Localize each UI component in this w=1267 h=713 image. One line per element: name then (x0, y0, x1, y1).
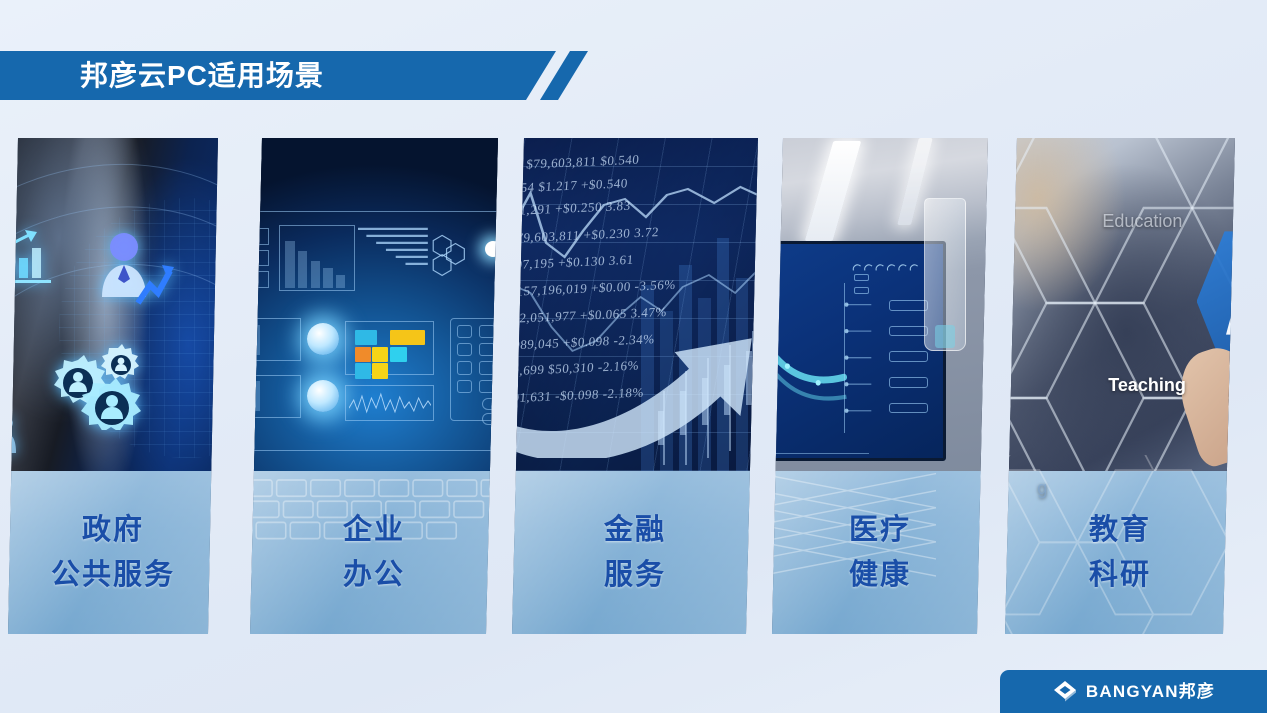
card-label-line1: 金融 (604, 508, 666, 553)
finance-photo: $2,410 $79,603,811 $0.540 $0.54 $1.217 +… (512, 138, 758, 471)
app-tile-refresh (372, 347, 388, 362)
monitor-icon-row (849, 259, 924, 276)
scenario-card-deck: 政府 公共服务 (0, 138, 1267, 634)
hex-label-teaching: Teaching (1108, 375, 1186, 396)
card-label-line2: 办公 (343, 553, 405, 598)
card-label-line2: 服务 (604, 553, 666, 598)
card-label-healthcare: 医疗 健康 (772, 471, 988, 634)
hex-label-presentation: tation (1005, 285, 1008, 306)
app-tile-sync (372, 363, 388, 378)
app-tile-wrench (355, 363, 371, 378)
enterprise-photo (250, 138, 498, 471)
medical-display-screen (772, 241, 946, 461)
diamond-fold-logo-icon (1052, 679, 1078, 705)
app-tile-doc (355, 347, 371, 362)
scenario-card-healthcare[interactable]: 医疗 健康 (772, 138, 988, 634)
app-tile-blank (390, 347, 407, 362)
card-label-line1: 教育 (1089, 508, 1151, 553)
card-label-line1: 企业 (343, 508, 405, 553)
footer-brand-bar: BANGYAN邦彦 (1000, 670, 1267, 713)
gear-people-icon (48, 338, 156, 430)
dna-visual-icon (772, 266, 849, 433)
person-growth-icon (94, 231, 176, 317)
card-label-finance: 金融 服务 (512, 471, 758, 634)
hex-label-education: Education (1102, 211, 1182, 232)
education-photo: Education Teaching tation (1005, 138, 1235, 471)
brand-name: BANGYAN邦彦 (1086, 683, 1215, 700)
people-row-icon (8, 411, 33, 461)
card-label-education: g 教育 科研 (1005, 471, 1235, 634)
card-label-line2: 科研 (1089, 553, 1151, 598)
app-tile-cart (390, 330, 425, 345)
scenario-card-enterprise[interactable]: 企业 办公 (250, 138, 498, 634)
hex-label-partial: g (1037, 478, 1047, 499)
card-label-government: 政府 公共服务 (8, 471, 218, 634)
healthcare-photo (772, 138, 988, 471)
scenario-card-finance[interactable]: $2,410 $79,603,811 $0.540 $0.54 $1.217 +… (512, 138, 758, 634)
hexagon-cluster-icon (431, 228, 475, 281)
scenario-card-government[interactable]: 政府 公共服务 (8, 138, 218, 634)
page-title: 邦彦云PC适用场景 (80, 62, 324, 90)
app-tile-home (355, 330, 377, 345)
slide-title-banner: 邦彦云PC适用场景 (0, 51, 556, 100)
card-label-line2: 公共服务 (51, 553, 175, 598)
card-label-line1: 医疗 (849, 508, 911, 553)
card-label-enterprise: 企业 办公 (250, 471, 498, 634)
card-label-line2: 健康 (849, 553, 911, 598)
waveform-chart-icon (349, 388, 432, 418)
government-photo (8, 138, 218, 471)
scenario-card-education[interactable]: Education Teaching tation g 教育 科研 (1005, 138, 1235, 634)
stripe-block-icon (358, 225, 428, 272)
bar-chart-icon (8, 228, 59, 284)
card-label-line1: 政府 (82, 508, 144, 553)
